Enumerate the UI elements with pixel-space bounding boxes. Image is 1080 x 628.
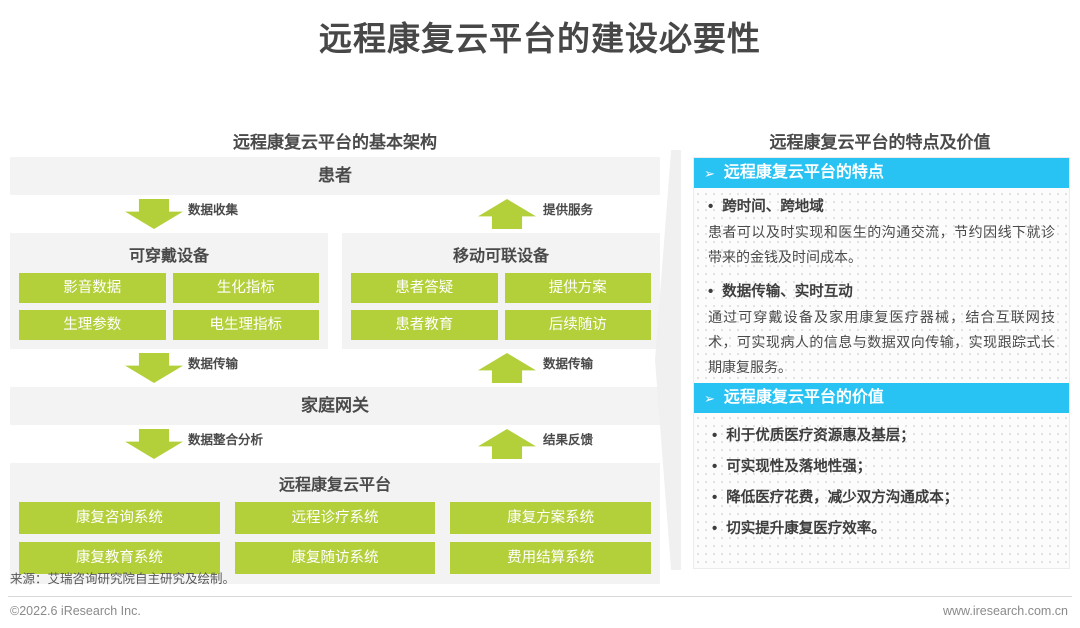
feature-text-0: 患者可以及时实现和医生的沟通交流，节约因线下就诊带来的金钱及时间成本。 xyxy=(694,218,1069,273)
chip-wearable-0[interactable]: 影音数据 xyxy=(19,273,166,303)
bullet-dot-icon: • xyxy=(712,521,717,536)
chip-list-wearable: 影音数据 生化指标 生理参数 电生理指标 xyxy=(19,273,319,340)
footer-website: www.iresearch.com.cn xyxy=(943,604,1068,618)
bullet-dot-icon: • xyxy=(712,459,717,474)
slide-root: 远程康复云平台的建设必要性 远程康复云平台的基本架构 远程康复云平台的特点及价值… xyxy=(0,0,1080,628)
chevron-right-icon: ➢ xyxy=(704,167,715,180)
band-home-gateway: 家庭网关 xyxy=(10,387,660,425)
chip-wearable-3[interactable]: 电生理指标 xyxy=(173,310,320,340)
platform-chip-2[interactable]: 康复方案系统 xyxy=(450,502,651,534)
platform-chip-4[interactable]: 康复随访系统 xyxy=(235,542,436,574)
value-item-1-label: 可实现性及落地性强； xyxy=(726,455,871,476)
arrow-label-data-analysis: 数据整合分析 xyxy=(188,429,263,448)
bullet-dot-icon: • xyxy=(708,199,713,214)
arrow-row-middle: 数据传输 数据传输 xyxy=(10,349,660,387)
arrow-label-data-transfer-right: 数据传输 xyxy=(543,353,593,372)
device-groups: 可穿戴设备 影音数据 生化指标 生理参数 电生理指标 移动可联设备 患者答疑 提… xyxy=(10,233,660,349)
arrow-row-lower: 数据整合分析 结果反馈 xyxy=(10,425,660,463)
section-bar-features-label: 远程康复云平台的特点 xyxy=(724,158,884,188)
bullet-dot-icon: • xyxy=(712,490,717,505)
platform-panel: 远程康复云平台 康复咨询系统 远程诊疗系统 康复方案系统 康复教育系统 康复随访… xyxy=(10,463,660,584)
chip-mobile-0[interactable]: 患者答疑 xyxy=(351,273,498,303)
value-item-0: • 利于优质医疗资源惠及基层； xyxy=(694,419,1069,450)
platform-chip-0[interactable]: 康复咨询系统 xyxy=(19,502,220,534)
value-item-2: • 降低医疗花费，减少双方沟通成本； xyxy=(694,481,1069,512)
page-title: 远程康复云平台的建设必要性 xyxy=(0,12,1080,60)
chip-mobile-3[interactable]: 后续随访 xyxy=(505,310,652,340)
arrow-label-result-feedback: 结果反馈 xyxy=(543,429,593,448)
section-bar-features: ➢ 远程康复云平台的特点 xyxy=(694,158,1069,188)
section-bar-value-label: 远程康复云平台的价值 xyxy=(724,383,884,413)
value-list: • 利于优质医疗资源惠及基层； • 可实现性及落地性强； • 降低医疗花费，减少… xyxy=(694,413,1069,543)
value-item-3: • 切实提升康复医疗效率。 xyxy=(694,512,1069,543)
footer-divider xyxy=(8,596,1072,597)
feature-bullet-1-label: 数据传输、实时互动 xyxy=(722,280,853,301)
bullet-dot-icon: • xyxy=(708,284,713,299)
chevron-right-icon: ➢ xyxy=(704,392,715,405)
bullet-dot-icon: • xyxy=(712,428,717,443)
source-note: 来源：艾瑞咨询研究院自主研究及绘制。 xyxy=(10,568,235,587)
arrow-label-data-collection: 数据收集 xyxy=(188,199,238,218)
value-item-0-label: 利于优质医疗资源惠及基层； xyxy=(726,424,915,445)
right-section-heading: 远程康复云平台的特点及价值 xyxy=(690,128,1070,153)
arrow-down-data-analysis-icon xyxy=(125,429,183,459)
section-bar-value: ➢ 远程康复云平台的价值 xyxy=(694,383,1069,413)
band-patient: 患者 xyxy=(10,157,660,195)
group-wearable-devices: 可穿戴设备 影音数据 生化指标 生理参数 电生理指标 xyxy=(10,233,328,349)
arrow-up-provide-service-icon xyxy=(478,199,536,229)
feature-bullet-1: • 数据传输、实时互动 xyxy=(694,273,1069,303)
group-title-wearable: 可穿戴设备 xyxy=(19,239,319,273)
value-item-2-label: 降低医疗花费，减少双方沟通成本； xyxy=(726,486,958,507)
arrow-label-data-transfer-left: 数据传输 xyxy=(188,353,238,372)
arrow-up-data-transfer-right-icon xyxy=(478,353,536,383)
platform-title: 远程康复云平台 xyxy=(19,468,651,502)
group-title-mobile: 移动可联设备 xyxy=(351,239,651,273)
platform-system-list: 康复咨询系统 远程诊疗系统 康复方案系统 康复教育系统 康复随访系统 费用结算系… xyxy=(19,502,651,574)
arrow-up-result-feedback-icon xyxy=(478,429,536,459)
arrow-down-data-transfer-left-icon xyxy=(125,353,183,383)
platform-chip-1[interactable]: 远程诊疗系统 xyxy=(235,502,436,534)
feature-bullet-0: • 跨时间、跨地域 xyxy=(694,188,1069,218)
architecture-diagram: 患者 数据收集 提供服务 可穿戴设备 影音数据 生化指标 生理参数 电生理指标 … xyxy=(10,157,660,584)
chip-mobile-1[interactable]: 提供方案 xyxy=(505,273,652,303)
footer-copyright: ©2022.6 iResearch Inc. xyxy=(10,604,141,618)
chip-mobile-2[interactable]: 患者教育 xyxy=(351,310,498,340)
group-mobile-devices: 移动可联设备 患者答疑 提供方案 患者教育 后续随访 xyxy=(342,233,660,349)
chip-list-mobile: 患者答疑 提供方案 患者教育 后续随访 xyxy=(351,273,651,340)
chip-wearable-1[interactable]: 生化指标 xyxy=(173,273,320,303)
value-item-3-label: 切实提升康复医疗效率。 xyxy=(726,517,886,538)
feature-bullet-0-label: 跨时间、跨地域 xyxy=(722,195,824,216)
left-section-heading: 远程康复云平台的基本架构 xyxy=(10,128,660,153)
chip-wearable-2[interactable]: 生理参数 xyxy=(19,310,166,340)
platform-chip-5[interactable]: 费用结算系统 xyxy=(450,542,651,574)
arrow-down-data-collection-icon xyxy=(125,199,183,229)
arrow-row-top: 数据收集 提供服务 xyxy=(10,195,660,233)
value-item-1: • 可实现性及落地性强； xyxy=(694,450,1069,481)
features-value-panel: ➢ 远程康复云平台的特点 • 跨时间、跨地域 患者可以及时实现和医生的沟通交流，… xyxy=(693,157,1070,569)
arrow-label-provide-service: 提供服务 xyxy=(543,199,593,218)
feature-text-1: 通过可穿戴设备及家用康复医疗器械，结合互联网技术，可实现病人的信息与数据双向传输… xyxy=(694,303,1069,383)
